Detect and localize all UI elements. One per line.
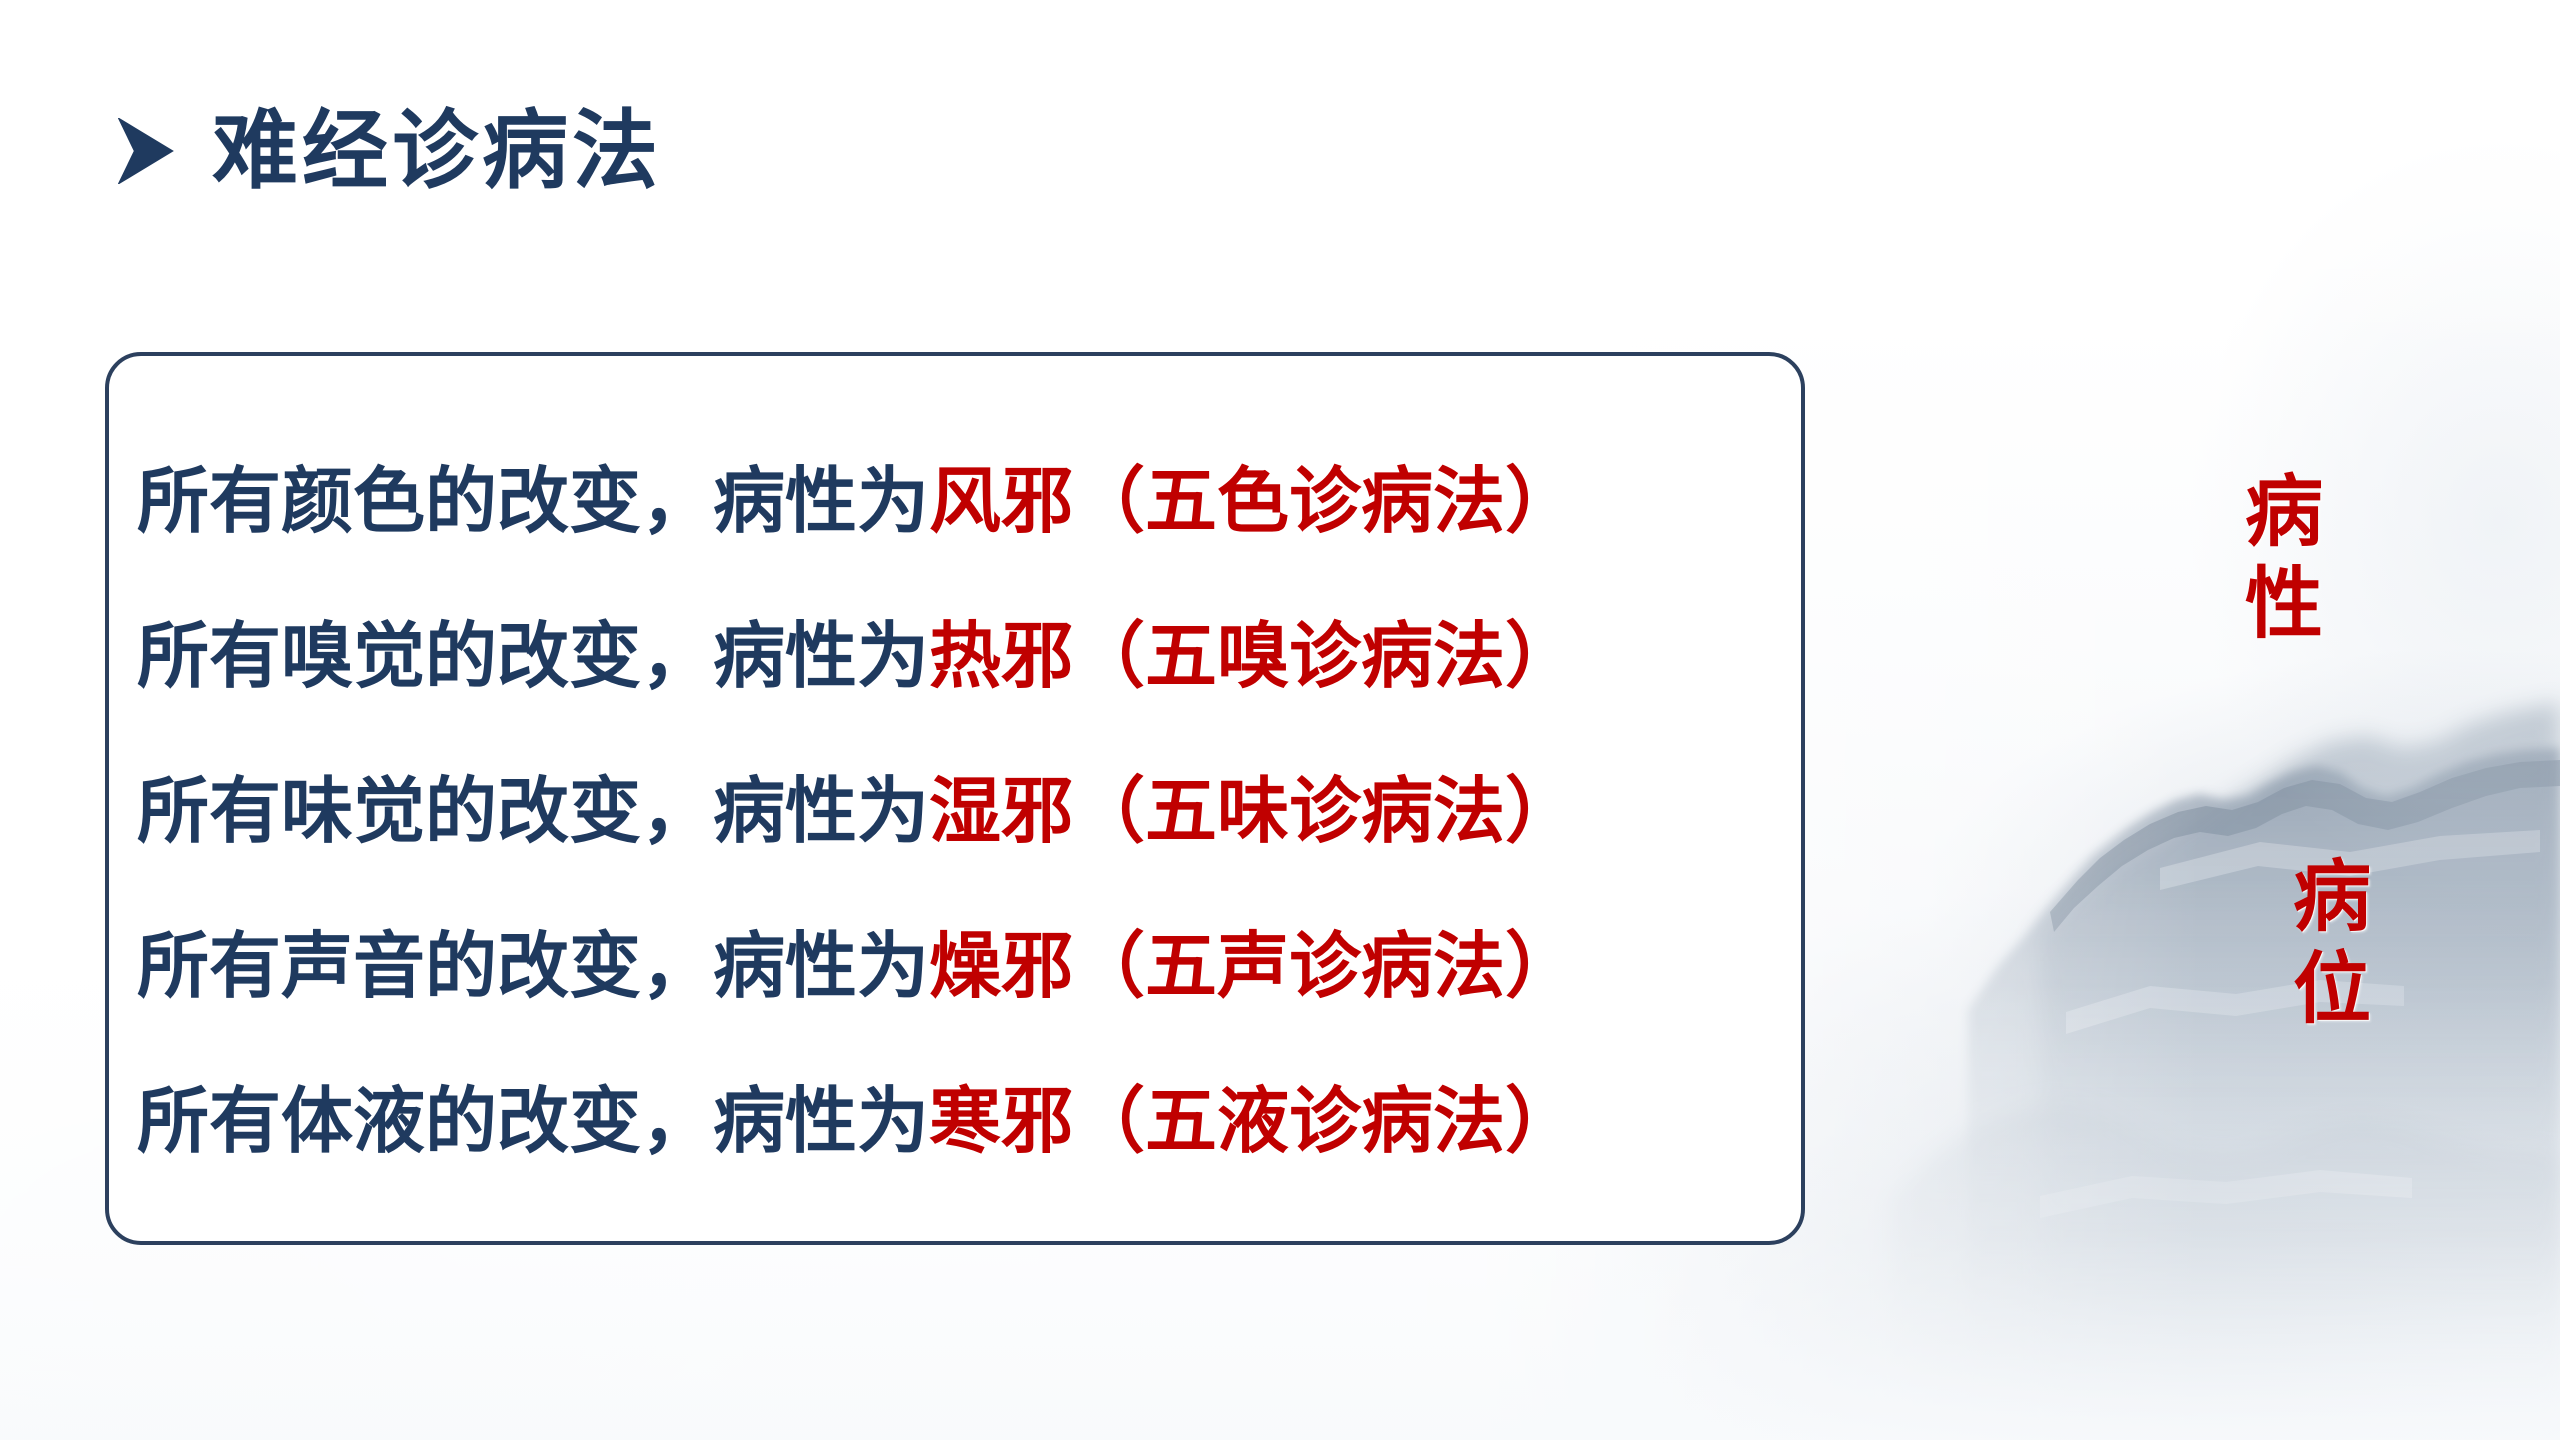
statement-navy-text: 所有颜色的改变，病性为 (137, 462, 929, 542)
statement-navy-text: 所有嗅觉的改变，病性为 (137, 617, 929, 697)
arrow-right-triangle-icon (118, 118, 174, 184)
statement-red-text: 湿邪（五味诊病法） (929, 772, 1577, 852)
statement-navy-text: 所有声音的改变，病性为 (137, 927, 929, 1007)
statement-line: 所有声音的改变，病性为燥邪（五声诊病法） (137, 915, 1801, 1070)
side-label-disease-nature: 病性 (2232, 470, 2324, 654)
statement-red-text: 燥邪（五声诊病法） (929, 927, 1577, 1007)
statement-line: 所有颜色的改变，病性为风邪（五色诊病法） (137, 450, 1801, 605)
page-title: 难经诊病法 (212, 108, 662, 194)
statement-line: 所有嗅觉的改变，病性为热邪（五嗅诊病法） (137, 605, 1801, 760)
statement-line: 所有体液的改变，病性为寒邪（五液诊病法） (137, 1070, 1801, 1225)
slide-title-row: 难经诊病法 (118, 108, 662, 194)
slide-canvas: 难经诊病法 所有颜色的改变，病性为风邪（五色诊病法） 所有嗅觉的改变，病性为热邪… (0, 0, 2560, 1440)
statement-line: 所有味觉的改变，病性为湿邪（五味诊病法） (137, 760, 1801, 915)
side-label-disease-location: 病位 (2280, 855, 2372, 1039)
statement-list: 所有颜色的改变，病性为风邪（五色诊病法） 所有嗅觉的改变，病性为热邪（五嗅诊病法… (109, 356, 1801, 1241)
statement-red-text: 寒邪（五液诊病法） (929, 1082, 1577, 1162)
statement-navy-text: 所有味觉的改变，病性为 (137, 772, 929, 852)
content-panel: 所有颜色的改变，病性为风邪（五色诊病法） 所有嗅觉的改变，病性为热邪（五嗅诊病法… (105, 352, 1805, 1245)
statement-red-text: 热邪（五嗅诊病法） (929, 617, 1577, 697)
statement-red-text: 风邪（五色诊病法） (929, 462, 1577, 542)
statement-navy-text: 所有体液的改变，病性为 (137, 1082, 929, 1162)
